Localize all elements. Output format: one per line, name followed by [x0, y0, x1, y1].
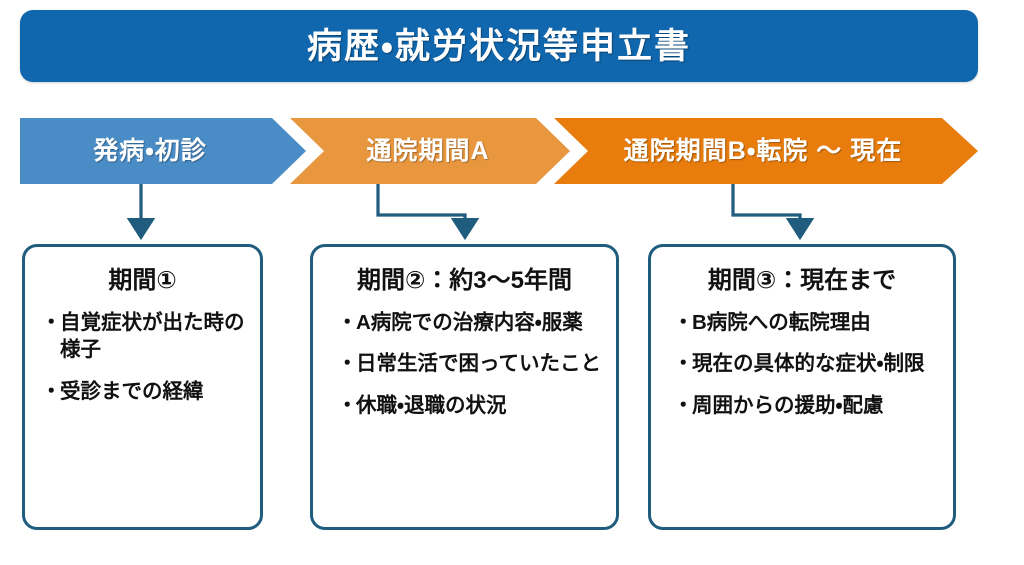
list-item: ・ B病院への転院理由	[671, 309, 943, 337]
connector-step2-to-card2	[378, 184, 465, 228]
bullet-dot-icon: ・	[673, 350, 694, 378]
list-item: ・ 日常生活で困っていたこと	[335, 350, 606, 378]
timeline-chevron-band: 発病・初診 通院期間A 通院期間B・転院 ～ 現在	[20, 118, 978, 184]
period-card-1-bullet-list: ・ 自覚症状が出た時の様子 ・ 受診までの経緯	[35, 309, 250, 406]
timeline-step-1[interactable]: 発病・初診	[20, 118, 306, 184]
bullet-dot-icon: ・	[337, 309, 358, 337]
list-item-text: B病院への転院理由	[692, 311, 871, 334]
connector-step3-to-card3	[733, 184, 800, 228]
timeline-step-3[interactable]: 通院期間B・転院 ～ 現在	[554, 118, 978, 184]
bullet-dot-icon: ・	[337, 350, 358, 378]
timeline-step-3-label: 通院期間B・転院 ～ 現在	[624, 139, 902, 164]
list-item: ・ 周囲からの援助・配慮	[671, 392, 943, 420]
list-item-text: 受診までの経緯	[60, 380, 204, 403]
bullet-dot-icon: ・	[673, 392, 694, 420]
period-card-3-bullet-list: ・ B病院への転院理由 ・ 現在の具体的な症状・制限 ・ 周囲からの援助・配慮	[661, 309, 943, 420]
list-item-text: A病院での治療内容・服薬	[356, 311, 583, 334]
list-item: ・ A病院での治療内容・服薬	[335, 309, 606, 337]
period-card-3[interactable]: 期間③：現在まで ・ B病院への転院理由 ・ 現在の具体的な症状・制限 ・ 周囲…	[648, 244, 956, 530]
period-card-1-title: 期間①	[35, 267, 250, 295]
period-card-3-title: 期間③：現在まで	[661, 267, 943, 295]
list-item: ・ 受診までの経緯	[39, 378, 250, 406]
list-item-text: 現在の具体的な症状・制限	[692, 352, 924, 375]
list-item-text: 自覚症状が出た時の様子	[60, 311, 245, 362]
bullet-dot-icon: ・	[41, 378, 62, 406]
bullet-dot-icon: ・	[41, 309, 62, 337]
bullet-dot-icon: ・	[673, 309, 694, 337]
period-card-1[interactable]: 期間① ・ 自覚症状が出た時の様子 ・ 受診までの経緯	[22, 244, 263, 530]
period-card-2-bullet-list: ・ A病院での治療内容・服薬 ・ 日常生活で困っていたこと ・ 休職・退職の状況	[323, 309, 606, 420]
list-item: ・ 休職・退職の状況	[335, 392, 606, 420]
page-title-bar: 病歴・就労状況等申立書	[20, 10, 978, 82]
timeline-step-1-label: 発病・初診	[93, 139, 207, 164]
page-title: 病歴・就労状況等申立書	[307, 29, 691, 64]
list-item-text: 日常生活で困っていたこと	[356, 352, 601, 375]
bullet-dot-icon: ・	[337, 392, 358, 420]
list-item-text: 周囲からの援助・配慮	[692, 394, 883, 417]
timeline-step-2-label: 通院期間A	[366, 139, 489, 164]
period-card-2[interactable]: 期間②：約3〜5年間 ・ A病院での治療内容・服薬 ・ 日常生活で困っていたこと…	[310, 244, 619, 530]
timeline-step-2[interactable]: 通院期間A	[290, 118, 570, 184]
list-item-text: 休職・退職の状況	[356, 394, 506, 417]
list-item: ・ 自覚症状が出た時の様子	[39, 309, 250, 364]
list-item: ・ 現在の具体的な症状・制限	[671, 350, 943, 378]
period-card-2-title: 期間②：約3〜5年間	[323, 267, 606, 295]
